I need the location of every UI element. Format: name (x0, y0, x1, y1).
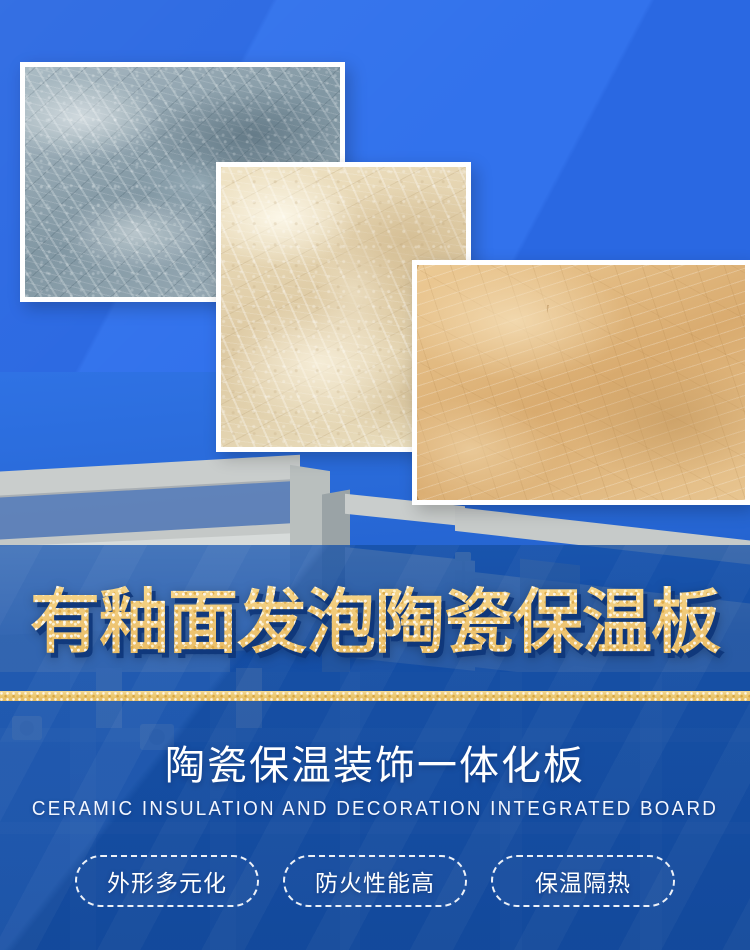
subtitle-chinese: 陶瓷保温装饰一体化板 (0, 740, 750, 792)
subtitle-english: CERAMIC INSULATION AND DECORATION INTEGR… (23, 796, 728, 822)
feature-badge-1[interactable]: 外形多元化 (75, 855, 259, 907)
product-banner: 有釉面发泡陶瓷保温板 陶瓷保温装饰一体化板 CERAMIC INSULATION… (0, 0, 750, 950)
feature-badge-2[interactable]: 防火性能高 (283, 855, 467, 907)
tile-sample-3[interactable] (412, 260, 750, 505)
gold-divider (0, 691, 750, 701)
headline: 有釉面发泡陶瓷保温板 (0, 578, 750, 666)
feature-badge-3[interactable]: 保温隔热 (491, 855, 675, 907)
tile-sample-3-surface (417, 265, 745, 500)
feature-badges: 外形多元化 防火性能高 保温隔热 (0, 855, 750, 907)
